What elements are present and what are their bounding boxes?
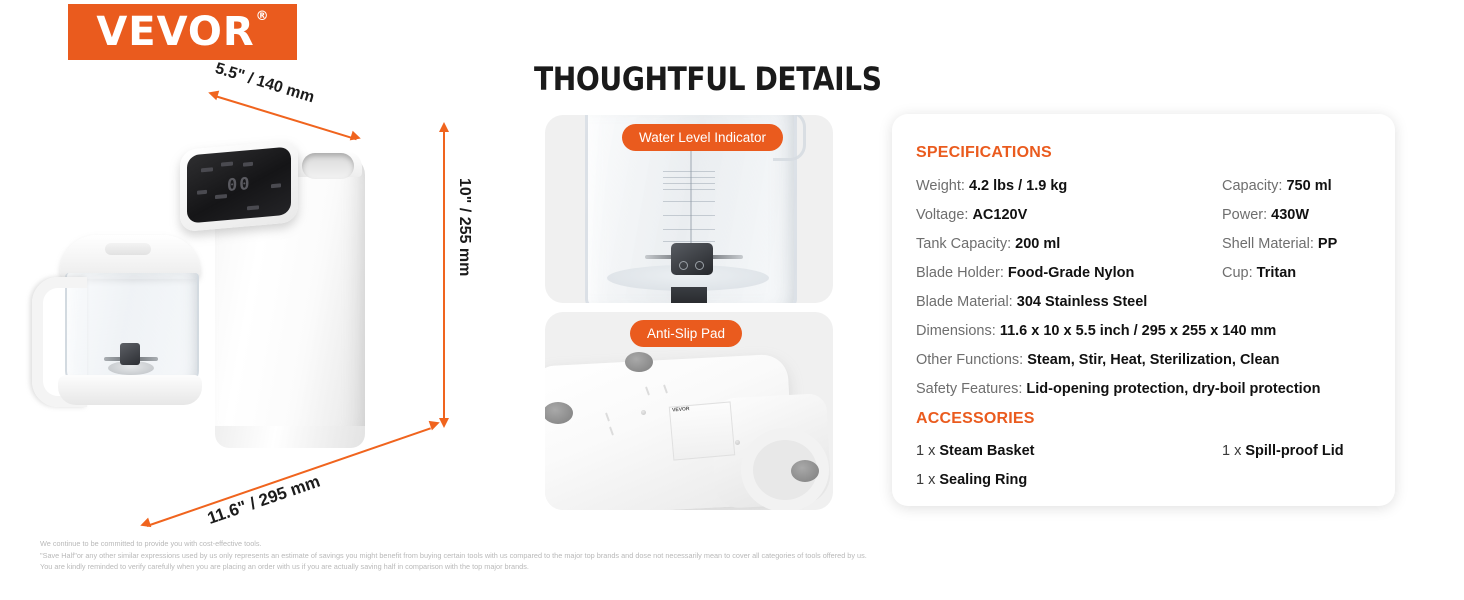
disclaimer-line-3: You are kindly reminded to verify carefu… xyxy=(40,561,867,573)
control-key-icon xyxy=(243,162,253,167)
specifications-card: SPECIFICATIONS Weight: 4.2 lbs / 1.9 kg … xyxy=(892,114,1395,506)
accessory-qty: 1 x xyxy=(916,443,939,459)
disclaimer-line-2: "Save Half"or any other similar expressi… xyxy=(40,550,867,562)
spec-value: 430W xyxy=(1271,207,1309,223)
spec-value: 11.6 x 10 x 5.5 inch / 295 x 255 x 140 m… xyxy=(1000,323,1277,339)
control-panel: 00 xyxy=(180,140,298,232)
spec-label: Dimensions: xyxy=(916,323,996,339)
spec-label: Other Functions: xyxy=(916,352,1023,368)
control-screen: 00 xyxy=(187,146,291,223)
product-photo: 00 5.5" / 140 mm 10" / 25 xyxy=(0,60,500,530)
spec-label: Cup: xyxy=(1222,265,1253,281)
jug-illustration xyxy=(32,235,222,420)
water-tank-slot xyxy=(302,153,354,179)
spec-label: Voltage: xyxy=(916,207,968,223)
accessory-qty: 1 x xyxy=(1222,443,1245,459)
cup-neck xyxy=(671,287,707,303)
spec-row: Blade Holder: Food-Grade Nylon xyxy=(916,266,1134,281)
blade-assembly-icon xyxy=(671,243,713,275)
spec-label: Blade Holder: xyxy=(916,265,1004,281)
spec-row: Voltage: AC120V xyxy=(916,208,1027,223)
digital-display: 00 xyxy=(227,174,251,196)
accessory-qty: 1 x xyxy=(916,472,939,488)
control-key-icon xyxy=(247,205,259,210)
jug-base xyxy=(58,375,202,405)
dimension-height-label: 10" / 255 mm xyxy=(455,178,473,276)
spec-value: Steam, Stir, Heat, Sterilization, Clean xyxy=(1027,352,1279,368)
spec-row: Power: 430W xyxy=(1222,208,1309,223)
spec-row: Safety Features: Lid-opening protection,… xyxy=(916,382,1320,397)
spec-label: Tank Capacity: xyxy=(916,236,1011,252)
screw-icon xyxy=(735,440,740,445)
spec-value: AC120V xyxy=(972,207,1027,223)
spec-value: 750 ml xyxy=(1286,178,1331,194)
logo-text: VEVOR® xyxy=(96,12,268,52)
disclaimer-line-1: We continue to be committed to provide y… xyxy=(40,538,867,550)
spec-row: Dimensions: 11.6 x 10 x 5.5 inch / 295 x… xyxy=(916,324,1276,339)
control-key-icon xyxy=(215,194,227,199)
spec-value: Tritan xyxy=(1257,265,1296,281)
spec-row: Capacity: 750 ml xyxy=(1222,179,1332,194)
spec-row: Other Functions: Steam, Stir, Heat, Ster… xyxy=(916,353,1279,368)
footer-disclaimer: We continue to be committed to provide y… xyxy=(40,538,867,573)
badge-water-level-indicator: Water Level Indicator xyxy=(622,124,783,151)
spec-label: Blade Material: xyxy=(916,294,1013,310)
accessory-item: 1 x Steam Basket xyxy=(916,443,1034,459)
section-title: THOUGHTFUL DETAILS xyxy=(534,60,882,98)
vevor-logo: VEVOR® xyxy=(68,4,297,60)
spec-row: Weight: 4.2 lbs / 1.9 kg xyxy=(916,179,1067,194)
spec-value: PP xyxy=(1318,236,1337,252)
spec-row: Shell Material: PP xyxy=(1222,237,1337,252)
blade-icon xyxy=(120,343,140,365)
control-key-icon xyxy=(201,167,213,172)
spec-label: Capacity: xyxy=(1222,178,1282,194)
graduation-marks-icon xyxy=(663,171,723,245)
specifications-heading: SPECIFICATIONS xyxy=(916,144,1052,162)
accessory-name: Steam Basket xyxy=(939,443,1034,459)
accessory-item: 1 x Spill-proof Lid xyxy=(1222,443,1344,459)
screw-icon xyxy=(641,410,646,415)
spec-row: Blade Material: 304 Stainless Steel xyxy=(916,295,1147,310)
spec-value: 4.2 lbs / 1.9 kg xyxy=(969,178,1067,194)
control-key-icon xyxy=(271,183,281,188)
spec-label: Shell Material: xyxy=(1222,236,1314,252)
spec-value: 200 ml xyxy=(1015,236,1060,252)
control-key-icon xyxy=(197,190,207,195)
spec-value: Food-Grade Nylon xyxy=(1008,265,1134,281)
brand-name: VEVOR xyxy=(96,9,254,55)
spec-value: 304 Stainless Steel xyxy=(1017,294,1148,310)
registered-mark: ® xyxy=(256,9,270,24)
control-key-icon xyxy=(221,162,233,167)
spec-label: Power: xyxy=(1222,207,1267,223)
anti-slip-foot-icon xyxy=(791,460,819,482)
accessory-name: Spill-proof Lid xyxy=(1245,443,1343,459)
spec-value: Lid-opening protection, dry-boil protect… xyxy=(1026,381,1320,397)
spec-row: Tank Capacity: 200 ml xyxy=(916,237,1060,252)
accessory-name: Sealing Ring xyxy=(939,472,1027,488)
accessories-heading: ACCESSORIES xyxy=(916,410,1035,428)
spec-label: Safety Features: xyxy=(916,381,1022,397)
product-rating-label: VEVOR xyxy=(669,401,735,460)
anti-slip-foot-icon xyxy=(625,352,653,372)
spec-row: Cup: Tritan xyxy=(1222,266,1296,281)
spec-label: Weight: xyxy=(916,178,965,194)
accessory-item: 1 x Sealing Ring xyxy=(916,472,1027,488)
badge-anti-slip-pad: Anti-Slip Pad xyxy=(630,320,742,347)
